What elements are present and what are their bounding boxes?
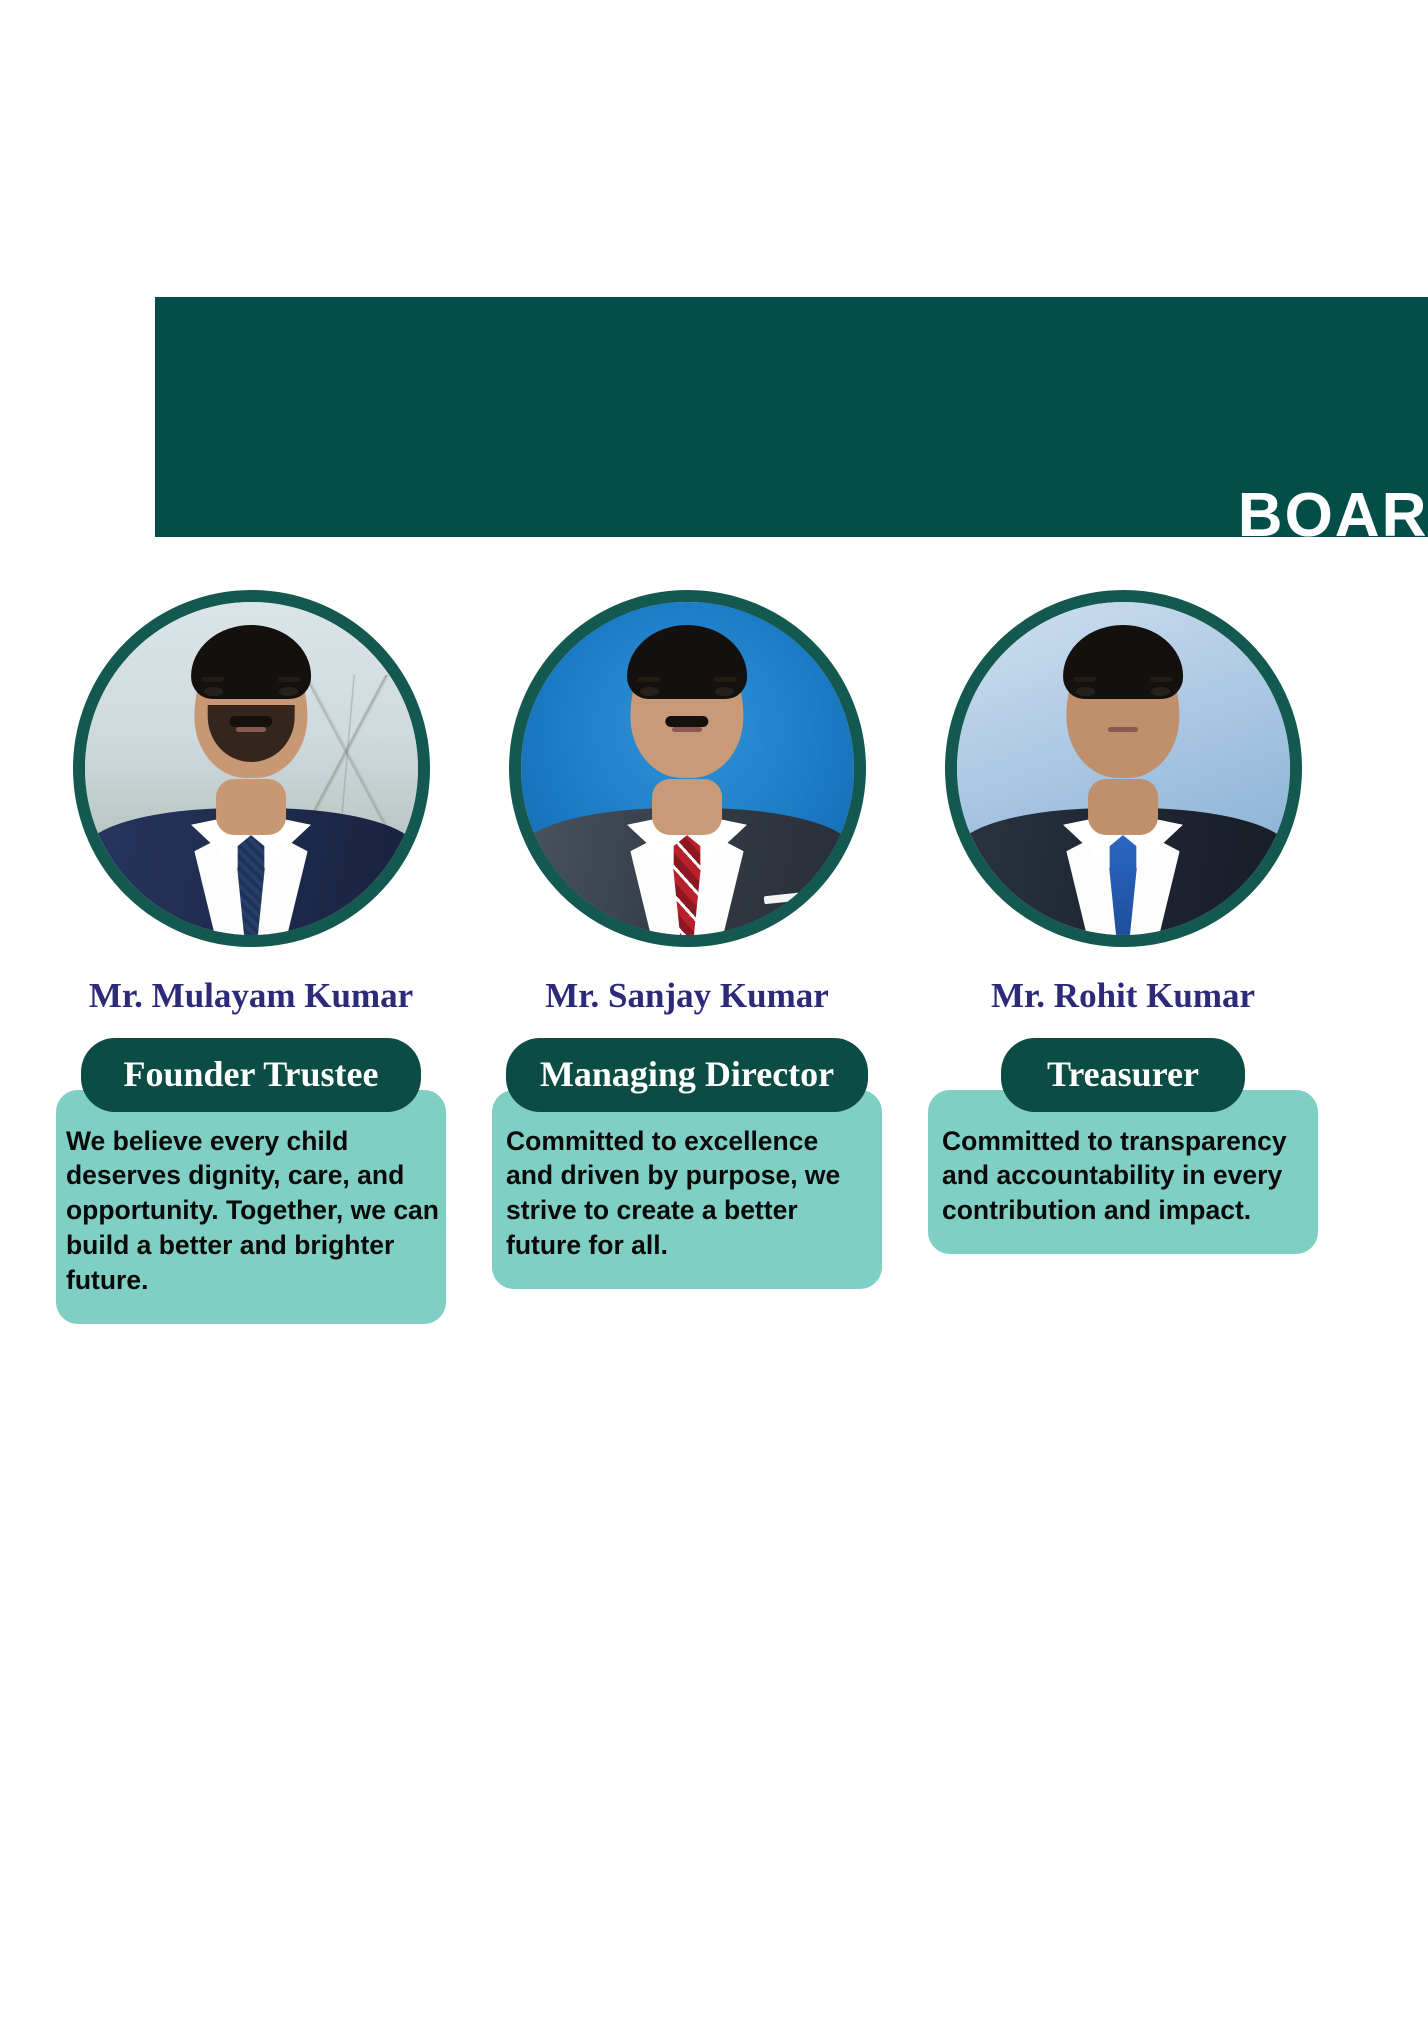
- page-title: BOARD M: [648, 485, 1428, 547]
- role-badge: Founder Trustee: [81, 1038, 420, 1112]
- neck: [216, 779, 286, 836]
- eye-left: [1076, 687, 1094, 696]
- eyebrow-right: [1150, 677, 1173, 682]
- mouth: [672, 727, 702, 732]
- portrait-photo-sanjay-kumar: [521, 602, 854, 935]
- eye-left: [204, 687, 222, 696]
- neck: [1088, 779, 1158, 836]
- board-members-row: Mr. Mulayam Kumar Founder Trustee We bel…: [0, 590, 1428, 1324]
- poster-canvas: BOARD M: [0, 0, 1428, 2018]
- member-name: Mr. Rohit Kumar: [991, 977, 1255, 1016]
- eyebrow-left: [1073, 677, 1096, 682]
- eye-left: [640, 687, 658, 696]
- member-name: Mr. Mulayam Kumar: [89, 977, 413, 1016]
- board-member-card: Mr. Sanjay Kumar Managing Director Commi…: [471, 590, 903, 1324]
- eye-right: [279, 687, 297, 696]
- role-badge: Treasurer: [1001, 1038, 1245, 1112]
- person-figure: [85, 602, 418, 935]
- mouth: [1108, 727, 1138, 732]
- member-description: Committed to transparency and accountabi…: [928, 1090, 1318, 1255]
- board-member-card: Mr. Rohit Kumar Treasurer Committed to t…: [907, 590, 1339, 1324]
- chevron-arrow-shape: [0, 155, 190, 621]
- portrait-photo-rohit-kumar: [957, 602, 1290, 935]
- member-info: Treasurer Committed to transparency and …: [928, 1038, 1318, 1255]
- member-name: Mr. Sanjay Kumar: [545, 977, 829, 1016]
- member-description: Committed to excellence and driven by pu…: [492, 1090, 882, 1290]
- role-badge: Managing Director: [506, 1038, 868, 1112]
- member-description: We believe every child deserves dignity,…: [56, 1090, 446, 1325]
- neck: [652, 779, 722, 836]
- eyebrow-right: [714, 677, 737, 682]
- moustache: [665, 716, 708, 727]
- mouth: [236, 727, 266, 732]
- eye-right: [1151, 687, 1169, 696]
- eyebrow-left: [637, 677, 660, 682]
- avatar: [73, 590, 430, 947]
- eye-right: [715, 687, 733, 696]
- eyebrow-left: [201, 677, 224, 682]
- avatar: [509, 590, 866, 947]
- board-member-card: Mr. Mulayam Kumar Founder Trustee We bel…: [35, 590, 467, 1324]
- person-figure: [521, 602, 854, 935]
- moustache: [229, 716, 272, 727]
- portrait-photo-mulayam-kumar: [85, 602, 418, 935]
- eyebrow-right: [278, 677, 301, 682]
- avatar: [945, 590, 1302, 947]
- member-info: Managing Director Committed to excellenc…: [492, 1038, 882, 1290]
- member-info: Founder Trustee We believe every child d…: [56, 1038, 446, 1325]
- person-figure: [957, 602, 1290, 935]
